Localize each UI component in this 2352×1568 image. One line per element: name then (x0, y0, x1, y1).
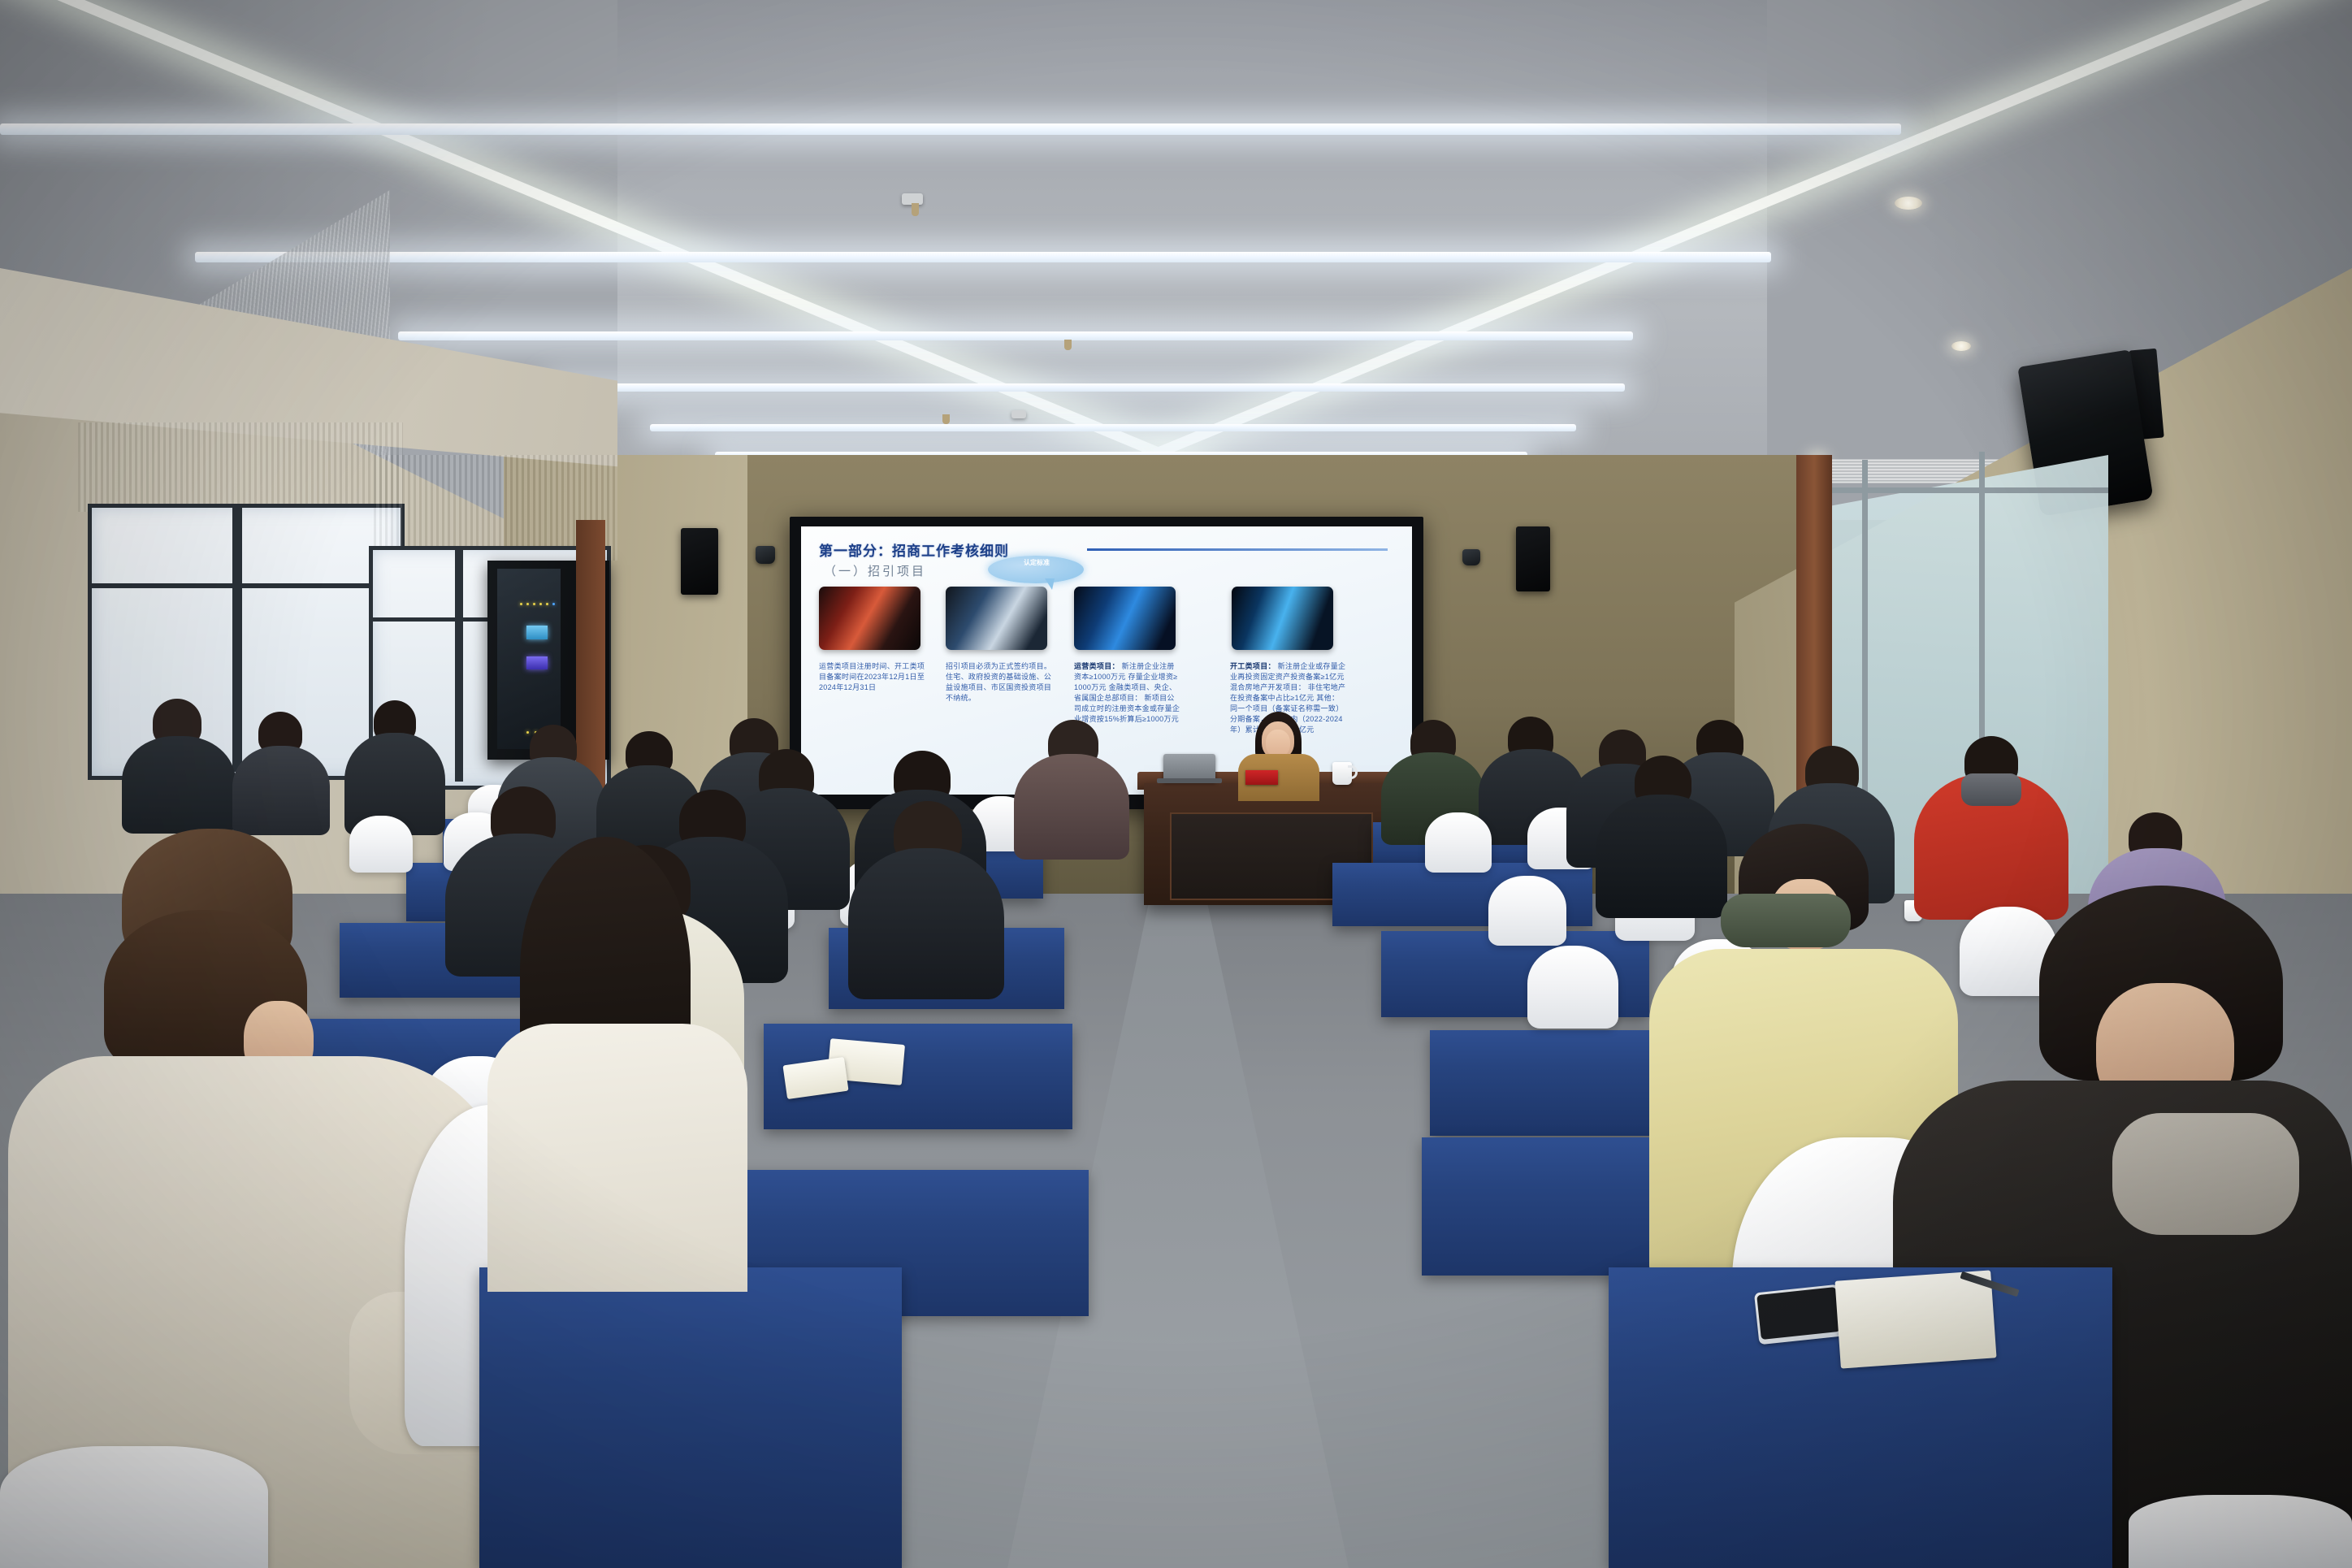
av-rack-status-led (526, 731, 529, 734)
window-mullion (455, 546, 463, 782)
audience-chair (1425, 812, 1492, 873)
sprinkler-icon (1064, 340, 1072, 350)
presenter-face (1266, 730, 1290, 757)
smartphone[interactable] (1754, 1284, 1843, 1345)
front-left-ptz-camera-icon (756, 546, 775, 564)
ceiling-led-bar-5 (650, 424, 1576, 431)
table-row (479, 1267, 902, 1568)
handshake-neon-thumb (1232, 587, 1333, 650)
audience-chair (1527, 946, 1618, 1029)
slide-title-rule (1087, 548, 1388, 551)
front-left-speaker (681, 528, 718, 595)
glass-partition-rail (1816, 487, 2108, 493)
slide-title: 第一部分：招商工作考核细则 (819, 539, 1009, 560)
audience-chair (2129, 1495, 2352, 1568)
presenter-laptop[interactable] (1163, 754, 1215, 782)
ceiling-led-bar-3 (398, 331, 1633, 340)
av-rack-status-led (526, 603, 529, 605)
front-right-speaker (1516, 526, 1550, 591)
ceiling-downlight (1895, 197, 1922, 210)
conference-room-scene: 第一部分：招商工作考核细则 （一）招引项目 认定标准 运营类项目注册时间、开工类… (0, 0, 2352, 1568)
av-rack-status-led (539, 603, 542, 605)
sprinkler-icon (942, 414, 950, 424)
slide-column-3-heading: 运营类项目： (1074, 662, 1120, 670)
attendee (848, 848, 1004, 999)
handshake-suit-thumb (946, 587, 1047, 650)
presenter-laptop-base[interactable] (1157, 778, 1222, 783)
window-mullion (88, 583, 396, 588)
ceiling-downlight (1951, 341, 1971, 351)
ceiling-led-bar-2 (195, 252, 1771, 262)
foreground-attendee-coat (487, 1024, 747, 1292)
handshake-blue-tech-thumb (1074, 587, 1176, 650)
ceiling-led-bar-1 (0, 123, 1901, 135)
av-rack-status-led (552, 603, 555, 605)
foreground-attendee-collar (2112, 1113, 2299, 1235)
audience-chair (1488, 876, 1566, 946)
slide: 第一部分：招商工作考核细则 （一）招引项目 认定标准 运营类项目注册时间、开工类… (801, 526, 1412, 795)
slide-column-2-body: 招引项目必须为正式签约项目。住宅、政府投资的基础设施、公益设施项目、市区国资投资… (946, 662, 1051, 702)
window-blind-1[interactable] (78, 422, 403, 512)
callout-bubble-label: 认定标准 (1006, 558, 1068, 567)
smoke-detector-icon (1011, 410, 1026, 418)
attendee-scarf (1721, 894, 1851, 947)
attendee (1014, 754, 1129, 860)
slide-column-1: 运营类项目注册时间、开工类项目备案时间在2023年12月1日至2024年12月3… (819, 661, 926, 693)
handshake-red-thumb (819, 587, 920, 650)
window-mullion (232, 504, 242, 772)
sprinkler-icon (912, 203, 919, 216)
attendee (1596, 795, 1727, 918)
av-rack-lcd-display (526, 626, 548, 639)
tea-mug (1332, 762, 1352, 785)
attendee-collar (1961, 773, 2021, 806)
av-rack-status-led (533, 603, 535, 605)
attendee (122, 736, 236, 834)
slide-column-1-body: 运营类项目注册时间、开工类项目备案时间在2023年12月1日至2024年12月3… (819, 662, 925, 691)
audience-chair (349, 816, 413, 873)
window-1 (88, 504, 405, 780)
name-card (1245, 770, 1278, 785)
audience-chair (0, 1446, 268, 1568)
av-rack-status-led (546, 603, 548, 605)
slide-column-4-heading: 开工类项目： (1230, 662, 1276, 670)
slide-subtitle: （一）招引项目 (824, 562, 926, 579)
slide-column-2: 招引项目必须为正式签约项目。住宅、政府投资的基础设施、公益设施项目、市区国资投资… (946, 661, 1053, 704)
slide-column-3: 运营类项目： 新注册企业注册资本≥1000万元 存量企业增资≥1000万元 金融… (1074, 661, 1181, 725)
notebook[interactable] (1834, 1270, 1996, 1368)
projection-screen: 第一部分：招商工作考核细则 （一）招引项目 认定标准 运营类项目注册时间、开工类… (801, 526, 1412, 795)
front-right-ptz-camera-icon (1462, 549, 1480, 565)
ceiling-led-bar-4 (552, 383, 1625, 392)
smartphone-screen (1756, 1287, 1840, 1340)
av-rack-lcd-display (526, 656, 548, 669)
av-rack-status-led (520, 603, 522, 605)
attendee (232, 746, 330, 835)
slide-column-3-body: 新注册企业注册资本≥1000万元 存量企业增资≥1000万元 金融类项目、央企、… (1074, 662, 1180, 723)
callout-bubble-tail (1045, 578, 1055, 590)
